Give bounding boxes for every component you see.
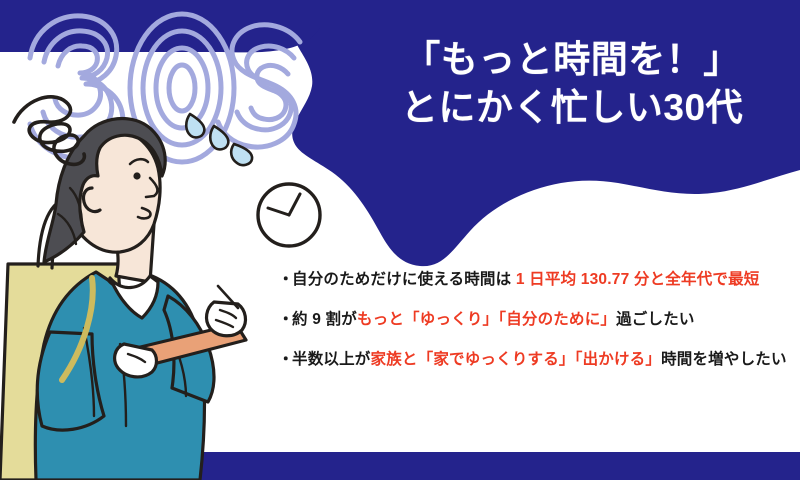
wall-clock-icon [252,178,326,252]
stress-squiggle-icon [8,78,108,190]
headline-line-2: とにかく忙しい30代 [352,84,792,132]
clock-hand-hour [289,194,300,215]
clock-hand-minute [268,208,289,215]
sweat-drop-2 [210,126,228,149]
bullet-3-segment-highlight: 家族と「家でゆっくりする」「出かける」 [371,351,662,368]
bullet-marker: ・ [278,348,294,372]
bullet-2-segment-plain-2: 過ごしたい [616,311,695,328]
headline: 「もっと時間を！」 とにかく忙しい30代 [352,36,792,132]
bullet-3-segment-plain-1: 半数以上が [292,351,371,368]
bullet-marker: ・ [278,268,294,292]
hand-upper [207,302,246,336]
bullet-3-segment-plain-2: 時間を増やしたい [661,351,787,368]
bullet-marker: ・ [278,308,294,332]
bullet-list: ・自分のためだけに使える時間は 1 日平均 130.77 分と全年代で最短 ・約… [278,268,793,372]
headline-line-1: 「もっと時間を！」 [352,36,792,84]
sweat-drop-1 [186,114,204,137]
bullet-1-segment-highlight: 1 日平均 130.77 分と全年代で最短 [516,271,760,288]
sweat-drops [182,106,264,168]
bullet-item-1: ・自分のためだけに使える時間は 1 日平均 130.77 分と全年代で最短 [278,268,793,292]
bullet-2-segment-plain-1: 約 9 割が [292,311,357,328]
bullet-2-segment-highlight: もっと「ゆっくり」「自分のために」 [357,311,616,328]
sweat-drop-3 [231,144,252,165]
hand-lower [115,344,157,377]
eye [133,172,140,179]
poster-canvas: 「もっと時間を！」 とにかく忙しい30代 [0,0,800,480]
bullet-item-3: ・半数以上が家族と「家でゆっくりする」「出かける」時間を増やしたい [278,348,793,372]
bullet-item-2: ・約 9 割がもっと「ゆっくり」「自分のために」過ごしたい [278,308,793,332]
bullet-1-segment-plain: 自分のためだけに使える時間は [292,271,516,288]
